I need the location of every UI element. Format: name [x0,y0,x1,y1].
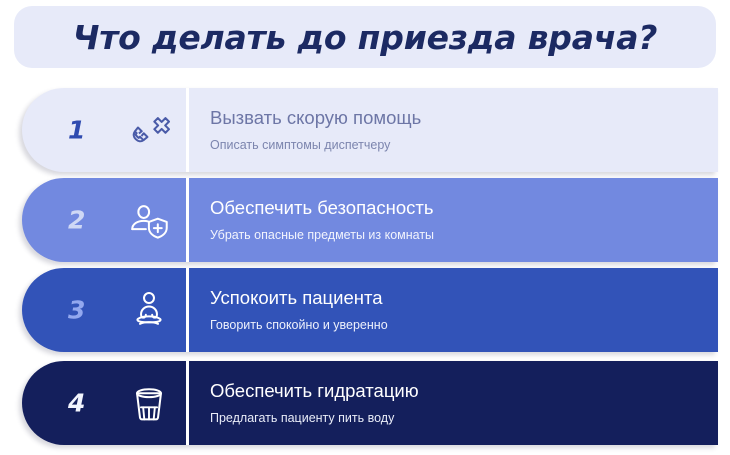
step-title: Обеспечить безопасность [210,197,718,218]
step-title: Вызвать скорую помощь [210,107,718,128]
step-left-block: 1 [22,88,186,172]
page-title: Что делать до приезда врача? [73,18,657,57]
infographic-canvas: Что делать до приезда врача? 1 Вызвать с… [0,0,730,455]
step-left-block: 4 [22,361,186,445]
list-item[interactable]: 1 Вызвать скорую помощь Описать симптомы… [22,88,718,172]
step-subtitle: Предлагать пациенту пить воду [210,411,718,425]
title-banner: Что делать до приезда врача? [14,6,716,68]
step-number: 1 [68,118,85,143]
step-title: Успокоить пациента [210,287,718,308]
drinking-glass-icon [126,380,172,426]
step-number: 2 [68,208,85,233]
step-body: Успокоить пациента Говорить спокойно и у… [189,268,718,352]
meditating-person-icon [126,287,172,333]
step-number: 3 [68,298,85,323]
step-body: Обеспечить безопасность Убрать опасные п… [189,178,718,262]
step-subtitle: Говорить спокойно и уверенно [210,318,718,332]
person-shield-plus-icon [126,197,172,243]
step-body: Обеспечить гидратацию Предлагать пациент… [189,361,718,445]
step-subtitle: Убрать опасные предметы из комнаты [210,228,718,242]
list-item[interactable]: 3 Успокоить пациента Говорить спокойно и… [22,268,718,352]
step-subtitle: Описать симптомы диспетчеру [210,138,718,152]
list-item[interactable]: 2 Обеспечить безопасность Убрать опасные… [22,178,718,262]
step-title: Обеспечить гидратацию [210,380,718,401]
step-number: 4 [68,391,85,416]
step-left-block: 3 [22,268,186,352]
list-item[interactable]: 4 Обеспечить гидратацию Предлагать пацие… [22,361,718,445]
step-body: Вызвать скорую помощь Описать симптомы д… [189,88,718,172]
phone-medical-cross-icon [126,107,172,153]
steps-list: 1 Вызвать скорую помощь Описать симптомы… [0,84,730,455]
step-left-block: 2 [22,178,186,262]
